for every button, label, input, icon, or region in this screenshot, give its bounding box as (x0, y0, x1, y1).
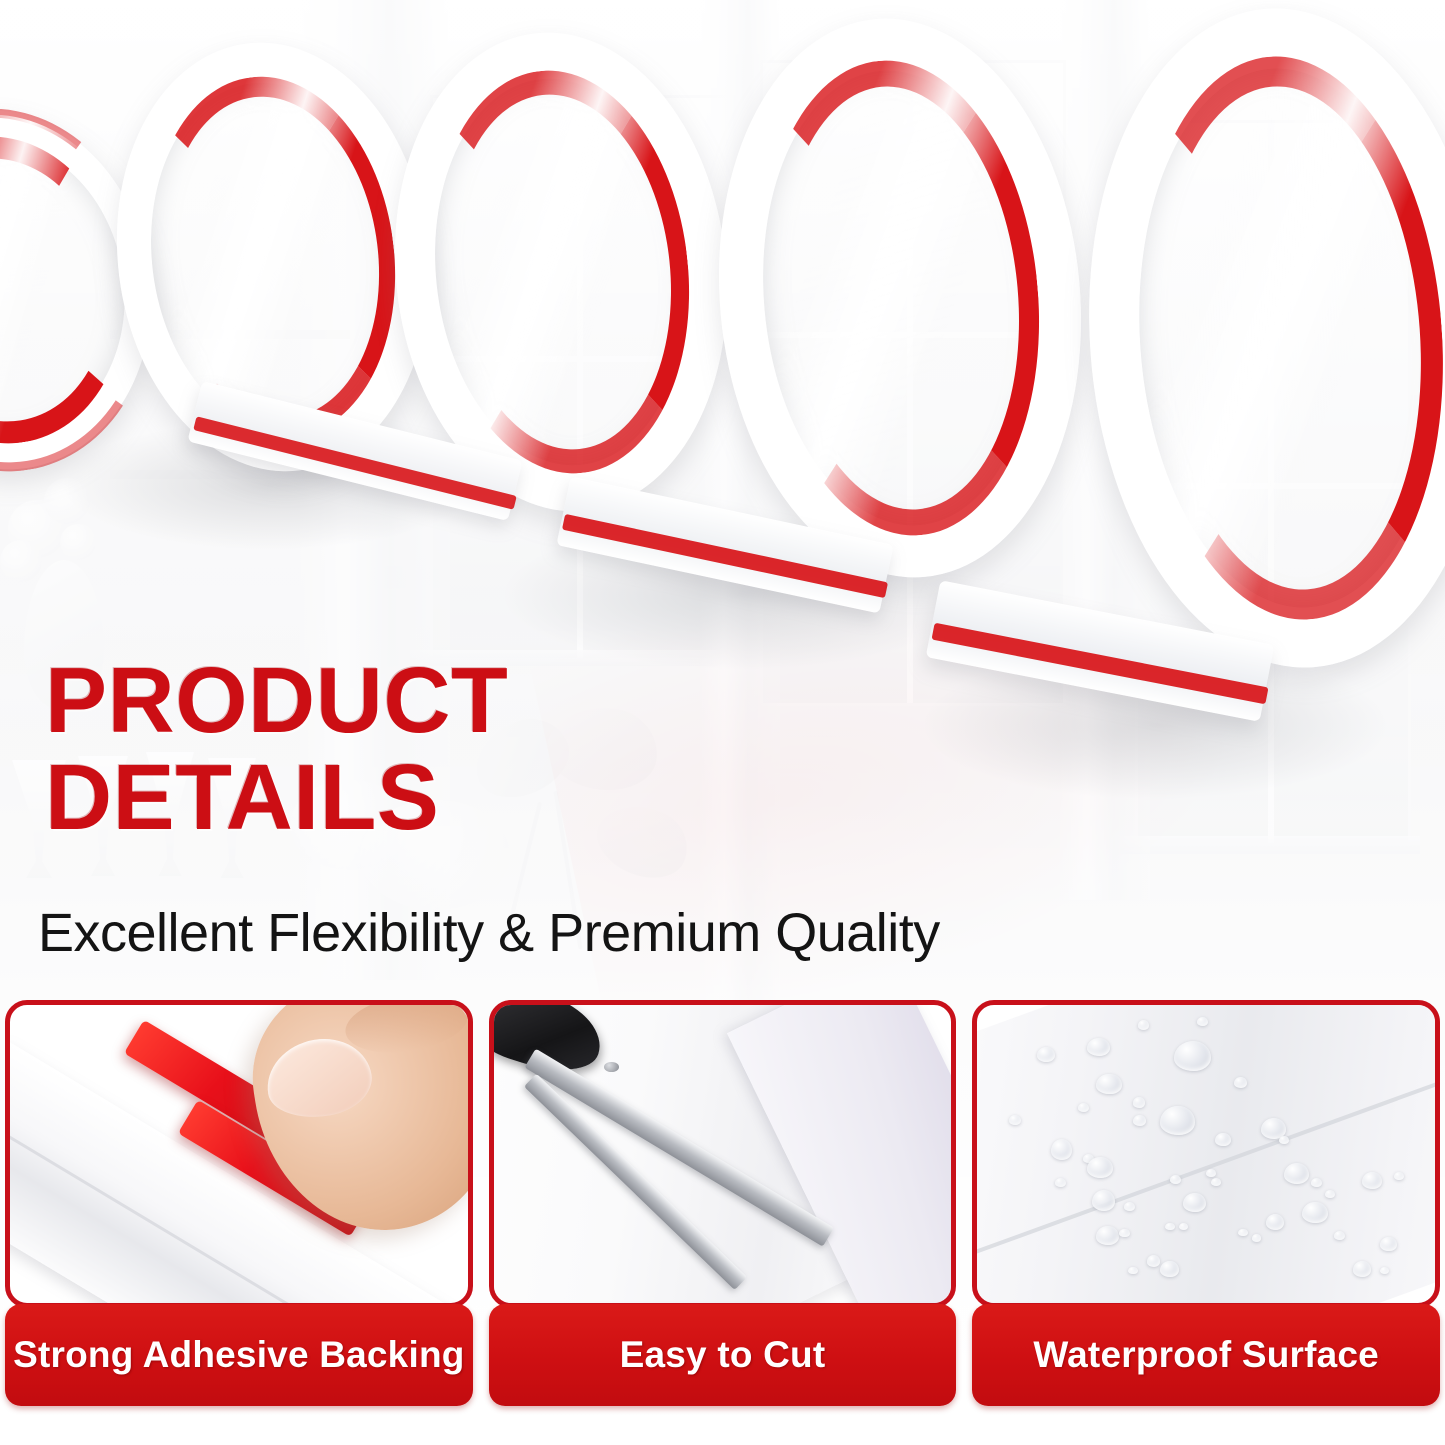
page-title-line-2: DETAILS (45, 752, 805, 843)
feature-photo-waterproof (972, 1000, 1440, 1308)
water-drop-icon (1078, 1103, 1089, 1112)
feature-caption-text: Strong Adhesive Backing (13, 1334, 464, 1376)
feature-caption-text: Easy to Cut (620, 1334, 826, 1376)
water-drop-icon (1128, 1267, 1137, 1274)
water-drop-icon (1055, 1178, 1066, 1187)
water-drop-icon (1197, 1017, 1208, 1026)
feature-caption-bar-adhesive: Strong Adhesive Backing (5, 1304, 473, 1406)
feature-panel-row: Strong Adhesive Backing Easy to Cut (0, 1000, 1445, 1420)
page-title: PRODUCT DETAILS (45, 655, 805, 843)
water-drop-icon (1211, 1178, 1221, 1186)
water-drop-icon (1215, 1133, 1231, 1146)
water-drop-icon (1087, 1038, 1110, 1056)
water-drop-icon (1037, 1047, 1055, 1062)
scissors-pivot-screw (604, 1062, 620, 1072)
water-drop-icon (1009, 1115, 1021, 1125)
water-drop-icon (1160, 1261, 1178, 1277)
feature-card-waterproof[interactable]: Waterproof Surface (972, 1000, 1440, 1420)
water-drop-icon (1124, 1202, 1135, 1211)
water-drop-icon (1380, 1237, 1396, 1251)
water-drop-icon (1394, 1172, 1404, 1180)
water-drop-icon (1133, 1115, 1146, 1126)
feature-caption-bar-waterproof: Waterproof Surface (972, 1304, 1440, 1406)
water-drop-icon (1179, 1223, 1188, 1230)
water-drop-icon (1238, 1229, 1248, 1237)
water-drop-icon (1183, 1193, 1206, 1213)
water-drop-icon (1284, 1163, 1309, 1184)
page-title-line-1: PRODUCT (45, 655, 805, 746)
feature-photo-easy-to-cut (489, 1000, 957, 1308)
water-drop-icon (1165, 1223, 1175, 1231)
water-drop-icon (1147, 1255, 1161, 1267)
water-drop-icon (1133, 1097, 1145, 1107)
product-detail-infographic: PRODUCT DETAILS Excellent Flexibility & … (0, 0, 1445, 1445)
knuckle-shading (341, 1000, 472, 1061)
water-drop-icon (1325, 1190, 1335, 1198)
water-drop-icon (1302, 1202, 1328, 1223)
water-drop-icon (1252, 1234, 1261, 1241)
water-drop-icon (1138, 1020, 1150, 1030)
water-drop-icon (1096, 1226, 1119, 1246)
water-drop-icon (1087, 1157, 1113, 1178)
page-subtitle: Excellent Flexibility & Premium Quality (38, 905, 1198, 962)
tape-coil (696, 3, 1103, 592)
feature-caption-bar-easy-to-cut: Easy to Cut (489, 1304, 957, 1406)
water-drop-icon (1160, 1106, 1194, 1134)
water-drop-icon (1362, 1172, 1382, 1189)
water-drop-icon (1311, 1178, 1322, 1187)
feature-card-easy-to-cut[interactable]: Easy to Cut (489, 1000, 957, 1420)
feature-photo-adhesive (5, 1000, 473, 1308)
water-drop-icon (1092, 1190, 1115, 1211)
water-drop-icon (1353, 1261, 1371, 1276)
feature-caption-text: Waterproof Surface (1033, 1334, 1379, 1376)
feature-card-adhesive[interactable]: Strong Adhesive Backing (5, 1000, 473, 1420)
water-drop-icon (1051, 1139, 1072, 1160)
water-drop-icon (1096, 1074, 1121, 1095)
water-drop-icon (1174, 1041, 1211, 1071)
water-drop-icon (1266, 1214, 1284, 1230)
tape-coil (1067, 0, 1445, 681)
hero-tape-spiral (0, 0, 1445, 1000)
